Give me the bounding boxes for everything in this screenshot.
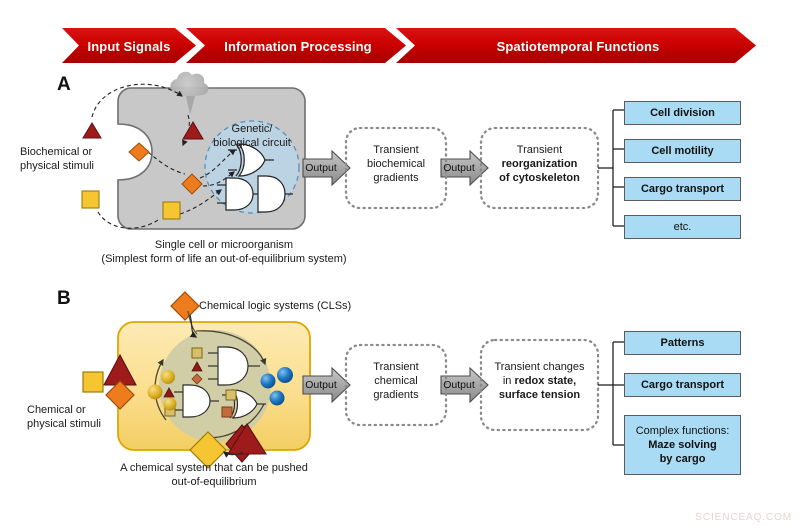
panel-b-result-label-2-line-0: Complex functions:: [636, 424, 730, 438]
panel-b-result-label-2-line-2: by cargo: [660, 452, 706, 466]
panel-b-result-box-patterns[interactable]: Patterns: [624, 331, 741, 355]
panel-b-caption: A chemical system that can be pushed out…: [84, 461, 344, 489]
panel-a-stage-2-line-3: of cytoskeleton: [481, 171, 598, 185]
panel-b-stage-1-line-3: gradients: [346, 388, 446, 402]
panel-a-stage-2-line-1: Transient: [481, 143, 598, 157]
diamond-marker-icon: [171, 292, 199, 320]
panel-b-inner-region: [159, 330, 271, 442]
panel-a-stage-2-line-2: reorganization: [481, 157, 598, 171]
panel-a-result-label-0: Cell division: [650, 106, 715, 120]
product-sphere-icon: [277, 367, 293, 383]
panel-a-stage-1-line-3: gradients: [346, 171, 446, 185]
reactant-sphere-icon: [148, 385, 163, 400]
panel-b-stage-1-text: Transient chemical gradients: [346, 360, 446, 402]
panel-a-circuit-label-line2: biological circuit: [202, 137, 302, 151]
panel-a-result-box-etc[interactable]: etc.: [624, 215, 741, 239]
panel-a-bracket: [598, 110, 624, 226]
panel-b-cls-diamond: [171, 292, 199, 320]
panel-letter-a: A: [57, 74, 71, 96]
panel-a-output-label-1: Output: [303, 162, 339, 174]
panel-b-stage-1-line-2: chemical: [346, 374, 446, 388]
panel-b-stage-2-line-2-plain: in: [503, 375, 515, 387]
panel-b-cls-label-suffix: s): [342, 300, 351, 312]
panel-a-result-label-3: etc.: [674, 220, 692, 234]
panel-b-bracket: [598, 342, 624, 445]
panel-b-result-label-1: Cargo transport: [641, 378, 724, 392]
reactant-sphere-icon: [164, 398, 177, 411]
square-marker-icon: [83, 372, 103, 392]
panel-b-stage-2-line-1: Transient changes: [481, 360, 598, 374]
panel-a-stimuli-label-line2: physical stimuli: [20, 160, 94, 174]
panel-a-caption: Single cell or microorganism (Simplest f…: [74, 238, 374, 266]
panel-a-result-label-2: Cargo transport: [641, 182, 724, 196]
panel-a-circuit-label-line1: Genetic/: [207, 123, 297, 137]
panel-a-result-box-cargo-transport[interactable]: Cargo transport: [624, 177, 741, 201]
panel-b-cls-label-prefix: Chemical logic systems (: [199, 300, 321, 312]
square-marker-icon: [222, 407, 232, 417]
square-marker-icon: [82, 191, 99, 208]
panel-a-result-box-cell-motility[interactable]: Cell motility: [624, 139, 741, 163]
square-marker-icon: [226, 390, 236, 400]
panel-b-cls-label-bold: CLS: [321, 300, 342, 312]
panel-b-stimuli-label-line2: physical stimuli: [27, 418, 101, 432]
panel-a-stage-1-text: Transient biochemical gradients: [346, 143, 446, 185]
diamond-marker-icon: [129, 143, 149, 161]
banner-label-spatiotemporal-functions: Spatiotemporal Functions: [400, 39, 756, 54]
reactant-sphere-icon: [161, 370, 175, 384]
watermark: SCIENCEAQ.COM: [695, 512, 792, 523]
panel-b-result-label-2-line-1: Maze solving: [648, 438, 716, 452]
panel-b-stage-2-text: Transient changes in redox state, surfac…: [481, 360, 598, 402]
square-marker-icon: [192, 348, 202, 358]
product-sphere-icon: [270, 391, 285, 406]
panel-b-output-label-2: Output: [441, 379, 477, 391]
banner-label-information-processing: Information Processing: [190, 39, 406, 54]
panel-a-caption-line-1: Single cell or microorganism: [74, 238, 374, 252]
square-marker-icon: [163, 202, 180, 219]
panel-letter-b: B: [57, 288, 71, 310]
panel-b-result-box-complex-functions[interactable]: Complex functions: Maze solving by cargo: [624, 415, 741, 475]
panel-b-stage-2-line-3: surface tension: [481, 388, 598, 402]
product-sphere-icon: [261, 374, 276, 389]
panel-b-stage-2-line-2: in redox state,: [481, 374, 598, 388]
banner-label-input-signals: Input Signals: [62, 39, 196, 54]
triangle-marker-icon: [83, 123, 101, 138]
figure-canvas: Input Signals Information Processing Spa…: [0, 0, 800, 530]
panel-a-result-label-1: Cell motility: [651, 144, 713, 158]
panel-b-caption-line-2: out-of-equilibrium: [84, 475, 344, 489]
panel-a-output-label-2: Output: [441, 162, 477, 174]
panel-a-caption-line-2: (Simplest form of life an out-of-equilib…: [74, 252, 374, 266]
panel-b-result-label-0: Patterns: [660, 336, 704, 350]
panel-a-stage-2-text: Transient reorganization of cytoskeleton: [481, 143, 598, 185]
panel-b-output-label-1: Output: [303, 379, 339, 391]
panel-a-stage-1-line-2: biochemical: [346, 157, 446, 171]
panel-a-result-box-cell-division[interactable]: Cell division: [624, 101, 741, 125]
panel-b-stage-1-line-1: Transient: [346, 360, 446, 374]
panel-b-caption-line-1: A chemical system that can be pushed: [84, 461, 344, 475]
panel-b-stimuli-label-line1: Chemical or: [27, 404, 86, 418]
panel-b-cls-label: Chemical logic systems (CLSs): [199, 300, 351, 314]
panel-a-stage-1-line-1: Transient: [346, 143, 446, 157]
panel-b-stage-2-line-2-bold: redox state,: [514, 375, 576, 387]
panel-b-result-box-cargo-transport[interactable]: Cargo transport: [624, 373, 741, 397]
panel-a-stimuli-label-line1: Biochemical or: [20, 146, 92, 160]
